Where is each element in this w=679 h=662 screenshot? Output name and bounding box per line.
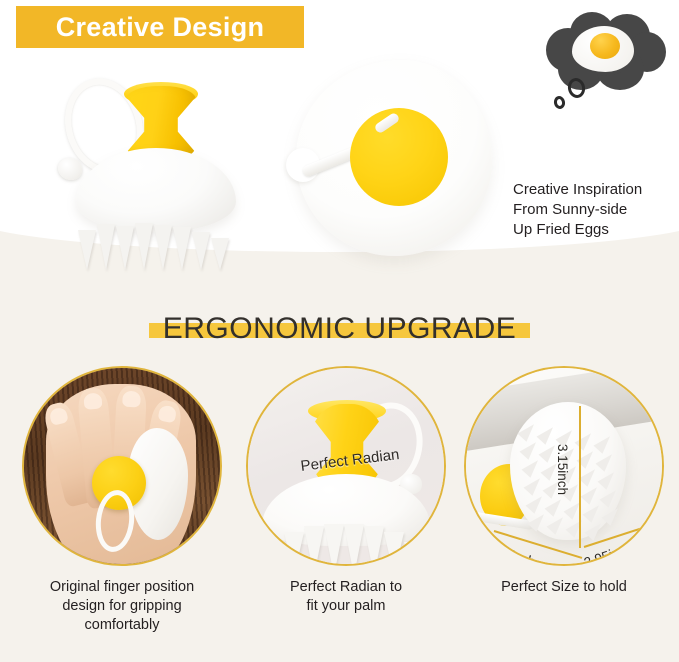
bristle [192, 232, 210, 270]
feature-row: Original finger position design for grip… [0, 366, 679, 662]
bristle [211, 238, 229, 270]
bristle [564, 498, 585, 519]
caption-line: Perfect Radian to [240, 578, 452, 597]
brush-bristles [78, 208, 236, 270]
feature-original-finger-position: Original finger position design for grip… [16, 366, 228, 635]
fried-egg-thought-bubble-icon [540, 8, 668, 100]
bristle [526, 492, 547, 513]
bristle [173, 227, 191, 270]
bristle [547, 513, 568, 534]
bristle [135, 223, 153, 270]
lanyard-bead [58, 158, 82, 180]
product-infographic: Creative Design Cr [0, 0, 679, 662]
bristle [594, 432, 615, 453]
dimension-label-height: 3.15inch [555, 444, 570, 495]
feature-perfect-radian: Perfect Radian Perfect Radian to fit you… [240, 366, 452, 616]
bristle [384, 532, 404, 566]
bristle [596, 450, 617, 471]
page-title: ERGONOMIC UPGRADE [163, 314, 517, 344]
creative-inspiration-caption: Creative Inspiration From Sunny-side Up … [513, 180, 642, 240]
bristle [545, 495, 566, 516]
inspiration-line-1: Creative Inspiration [513, 180, 642, 200]
bristle [537, 423, 558, 444]
bristle [304, 526, 324, 566]
bristle [284, 532, 304, 566]
bristle [583, 501, 604, 522]
bristle [524, 474, 545, 495]
bristle [324, 524, 344, 566]
ergonomic-upgrade-heading: ERGONOMIC UPGRADE [0, 300, 679, 358]
caption-line: Perfect Size to hold [458, 578, 670, 597]
bristle [528, 510, 549, 531]
fingernail [122, 391, 141, 408]
heading-inner: ERGONOMIC UPGRADE [149, 314, 531, 344]
bristle [575, 429, 596, 450]
inspiration-line-3: Up Fried Eggs [513, 220, 642, 240]
caption-line: design for gripping [16, 597, 228, 616]
fingernail [157, 404, 177, 423]
bristle [78, 230, 96, 270]
bristle [522, 456, 543, 477]
caption-line: fit your palm [240, 597, 452, 616]
bristle [116, 226, 134, 270]
fingernail [83, 392, 102, 410]
feature-perfect-size: 3.15inch 2.76inch 2.95inch Perfect Size … [458, 366, 670, 597]
feature-image-hand-gripping-brush [22, 366, 222, 566]
feature-caption-3: Perfect Size to hold [458, 578, 670, 597]
feature-image-brush-dimensions: 3.15inch 2.76inch 2.95inch [464, 366, 664, 566]
bristle [344, 524, 364, 566]
brush-bristles-radian [264, 520, 430, 566]
feature-caption-2: Perfect Radian to fit your palm [240, 578, 452, 616]
product-image-topdown-brush [288, 52, 498, 267]
bristle [581, 483, 602, 504]
caption-line: comfortably [16, 616, 228, 635]
feature-caption-1: Original finger position design for grip… [16, 578, 228, 635]
feature-image-brush-radian: Perfect Radian [246, 366, 446, 566]
caption-line: Original finger position [16, 578, 228, 597]
bristle [579, 465, 600, 486]
creative-design-banner-label: Creative Design [56, 14, 265, 41]
bristle [520, 438, 541, 459]
bristle [97, 224, 115, 270]
dimension-arrow-height [579, 406, 581, 548]
bristle [154, 225, 172, 270]
bristle [598, 468, 619, 489]
bristle [364, 526, 384, 566]
product-image-angled-brush [48, 62, 258, 257]
inspiration-line-2: From Sunny-side [513, 200, 642, 220]
egg-yolk-icon [590, 33, 620, 59]
brush-bristles-size [522, 422, 618, 534]
creative-design-banner: Creative Design [16, 6, 304, 48]
bristle [264, 542, 284, 566]
fingernail [48, 406, 68, 426]
creative-design-section: Creative Design Cr [0, 0, 679, 300]
yellow-yolk-knob [350, 108, 448, 206]
bristle [404, 542, 424, 566]
bristle [600, 486, 621, 507]
